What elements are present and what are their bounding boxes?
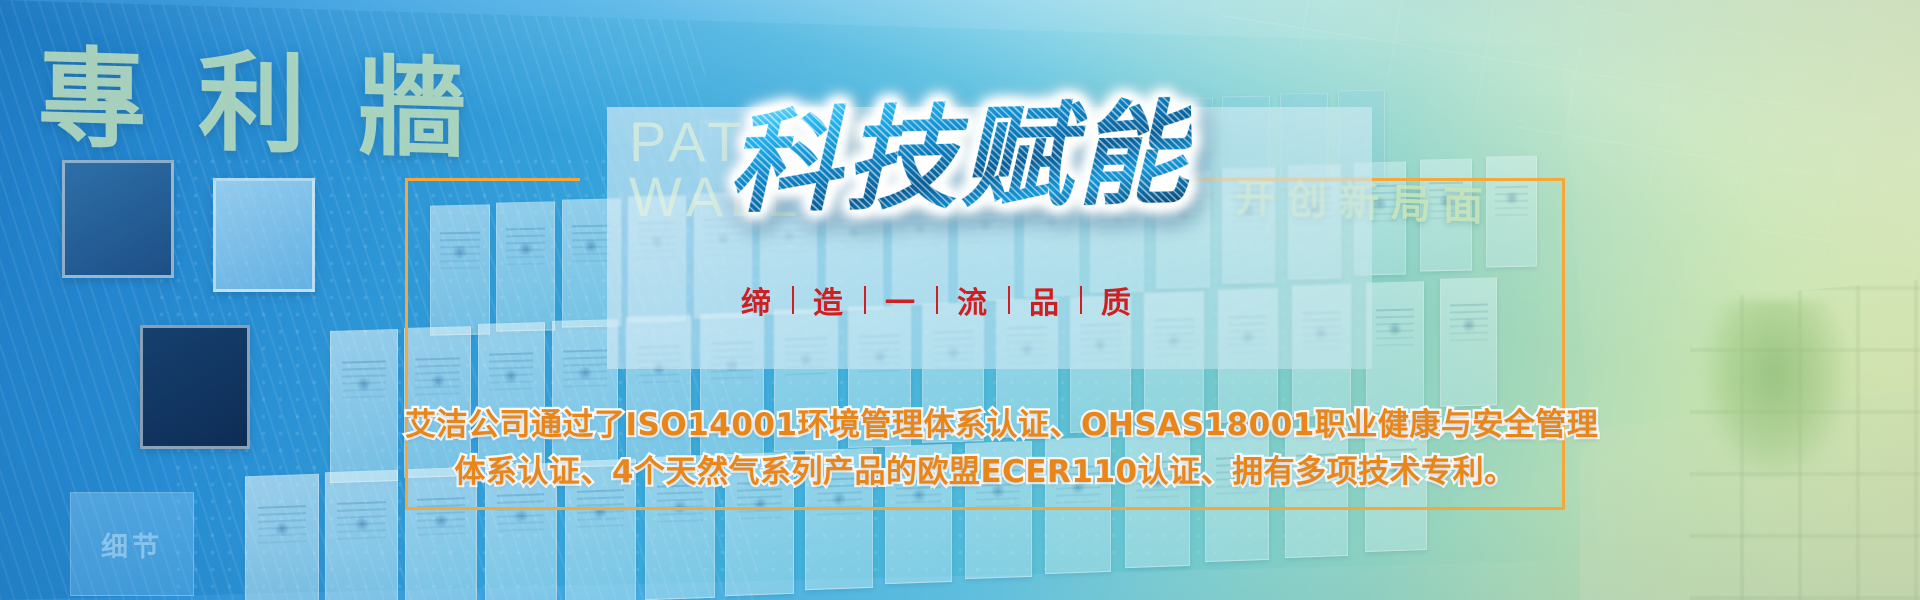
certification-paragraph: 艾洁公司通过了ISO14001环境管理体系认证、OHSAS18001职业健康与安… [405,402,1565,496]
headline-title: 科技赋能 [727,95,1193,222]
slogan-character: 品 [1010,278,1080,322]
slogan-character: 缔 [722,278,792,322]
detail-card-label: 细节 [70,492,194,596]
patent-wall-banner: 專利牆 细节 开创新局面 PATENT WALL 科技赋能 缔造一流品质 艾洁公… [0,0,1920,600]
slogan-character: 流 [938,278,1008,322]
wall-title-characters: 專利牆 [38,11,518,180]
paragraph-line-2: 体系认证、4个天然气系列产品的欧盟ECER110认证、拥有多项技术专利。 [405,449,1565,496]
red-slogan: 缔造一流品质 [722,278,1152,322]
slogan-character: 质 [1082,278,1152,322]
slogan-character: 造 [794,278,864,322]
paragraph-line-1: 艾洁公司通过了ISO14001环境管理体系认证、OHSAS18001职业健康与安… [405,402,1565,449]
slogan-character: 一 [866,278,936,322]
